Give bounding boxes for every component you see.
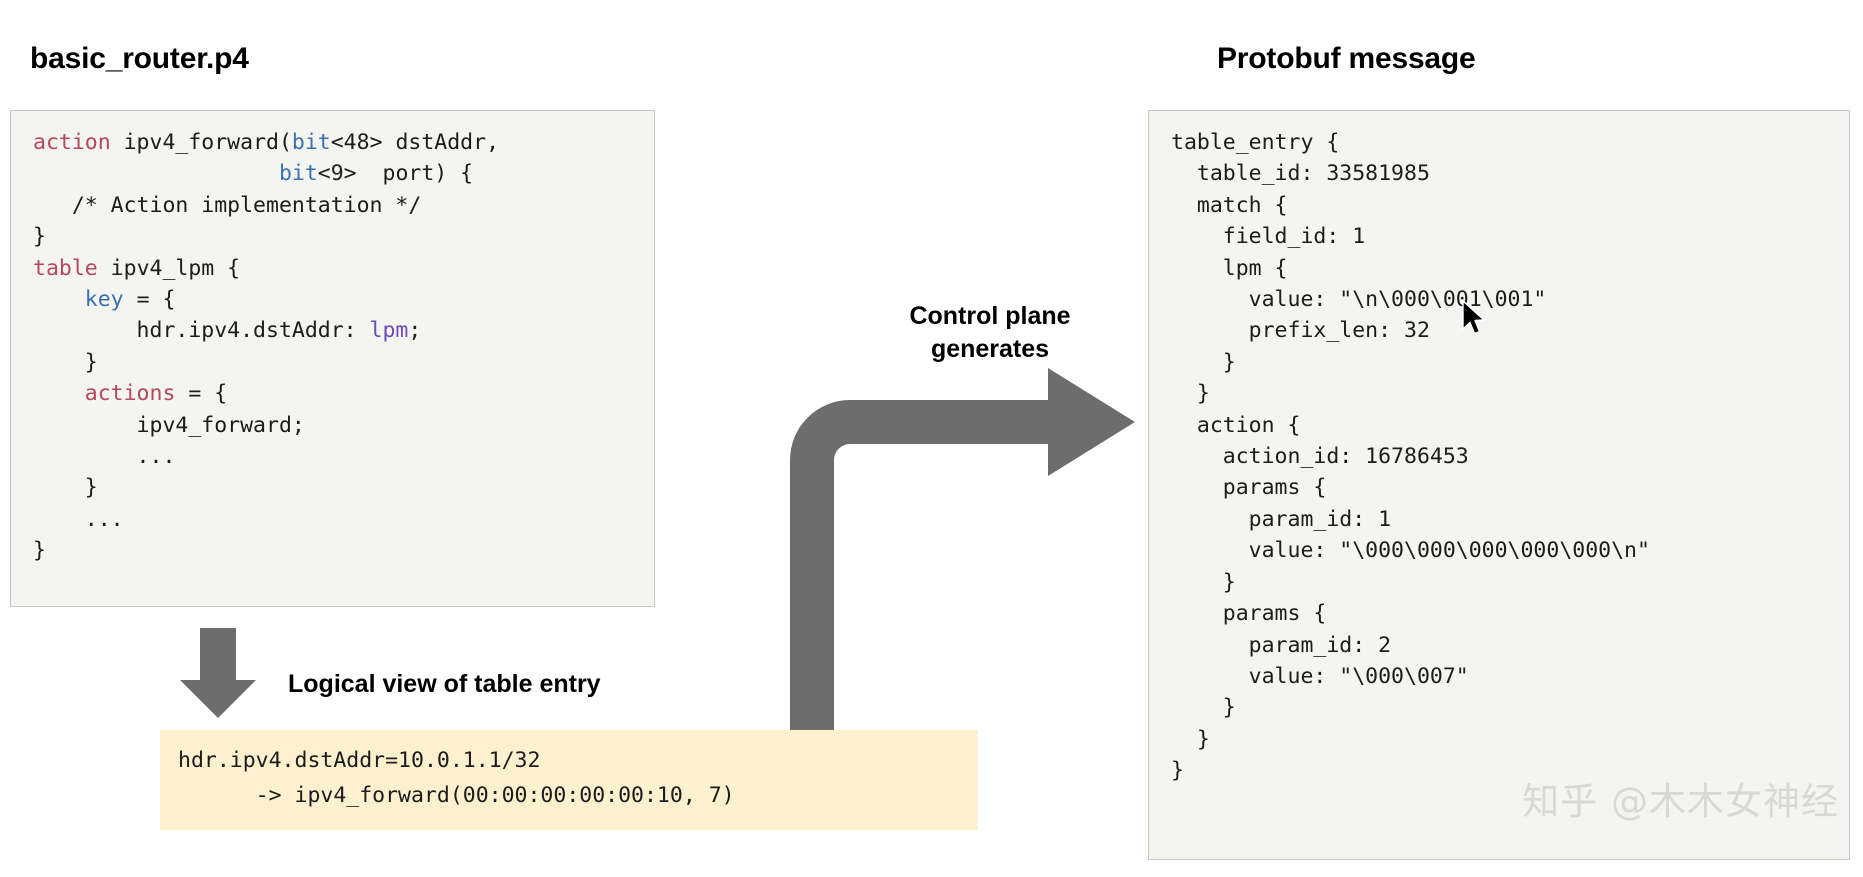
code-token: ipv4_forward( (111, 130, 292, 155)
code-token: prefix_len: 32 (1171, 318, 1430, 343)
logical-view-arrow-label: Logical view of table entry (288, 668, 768, 701)
logical-view-entry-box: hdr.ipv4.dstAddr=10.0.1.1/32 -> ipv4_for… (160, 730, 978, 830)
code-token: <48> dstAddr, (331, 130, 499, 155)
code-token: /* Action implementation */ (33, 193, 421, 218)
mouse-cursor-icon (1462, 300, 1488, 338)
code-token: bit (292, 130, 331, 155)
code-token: table_entry { (1171, 130, 1339, 155)
code-token: lpm (370, 318, 409, 343)
code-token: } (1171, 758, 1184, 783)
p4-source-code-text: action ipv4_forward(bit<48> dstAddr, bit… (11, 111, 654, 567)
code-token: ipv4_forward; (33, 413, 305, 438)
code-token: lpm { (1171, 256, 1288, 281)
code-token: table (33, 256, 98, 281)
code-token: -> ipv4_forward(00:00:00:00:00:10, 7) (178, 783, 735, 808)
elbow-arrow-icon (790, 400, 1150, 730)
protobuf-message-text: table_entry { table_id: 33581985 match {… (1149, 111, 1849, 787)
code-token: params { (1171, 475, 1326, 500)
code-token: <9> port) { (318, 161, 473, 186)
code-token: ... (33, 444, 175, 469)
code-token: = { (124, 287, 176, 312)
code-token: } (1171, 350, 1236, 375)
code-token: field_id: 1 (1171, 224, 1365, 249)
code-token: value: "\000\007" (1171, 664, 1469, 689)
code-token: } (1171, 381, 1210, 406)
code-token: param_id: 1 (1171, 507, 1391, 532)
code-token: value: "\n\000\001\001" (1171, 287, 1546, 312)
code-token: } (1171, 570, 1236, 595)
code-token: hdr.ipv4.dstAddr: (33, 318, 370, 343)
code-token: bit (279, 161, 318, 186)
protobuf-message-box: table_entry { table_id: 33581985 match {… (1148, 110, 1850, 860)
code-token: } (33, 538, 46, 563)
code-token: action (33, 130, 111, 155)
code-token: ; (408, 318, 421, 343)
p4-source-code-box: action ipv4_forward(bit<48> dstAddr, bit… (10, 110, 655, 607)
code-token: match { (1171, 193, 1288, 218)
code-token: action_id: 16786453 (1171, 444, 1469, 469)
down-arrow-icon (178, 628, 258, 718)
code-token (33, 161, 279, 186)
code-token: param_id: 2 (1171, 633, 1391, 658)
code-token: actions (85, 381, 176, 406)
code-token: } (33, 475, 98, 500)
code-token (33, 287, 85, 312)
zhihu-watermark: 知乎 @木木女神经 (1522, 771, 1839, 825)
code-token: } (1171, 695, 1236, 720)
control-plane-arrow-label: Control plane generates (865, 300, 1115, 366)
right-panel-title: Protobuf message (1217, 42, 1476, 76)
code-token: action { (1171, 413, 1300, 438)
code-token: ipv4_lpm { (98, 256, 240, 281)
code-token: = { (175, 381, 227, 406)
code-token: key (85, 287, 124, 312)
code-token: } (33, 350, 98, 375)
left-panel-title: basic_router.p4 (30, 42, 249, 76)
logical-view-entry-text: hdr.ipv4.dstAddr=10.0.1.1/32 -> ipv4_for… (160, 730, 978, 813)
code-token: table_id: 33581985 (1171, 161, 1430, 186)
code-token: hdr.ipv4.dstAddr=10.0.1.1/32 (178, 748, 540, 773)
code-token: } (33, 224, 46, 249)
code-token: ... (33, 507, 124, 532)
code-token (33, 381, 85, 406)
code-token: value: "\000\000\000\000\000\n" (1171, 538, 1650, 563)
code-token: } (1171, 727, 1210, 752)
code-token: params { (1171, 601, 1326, 626)
